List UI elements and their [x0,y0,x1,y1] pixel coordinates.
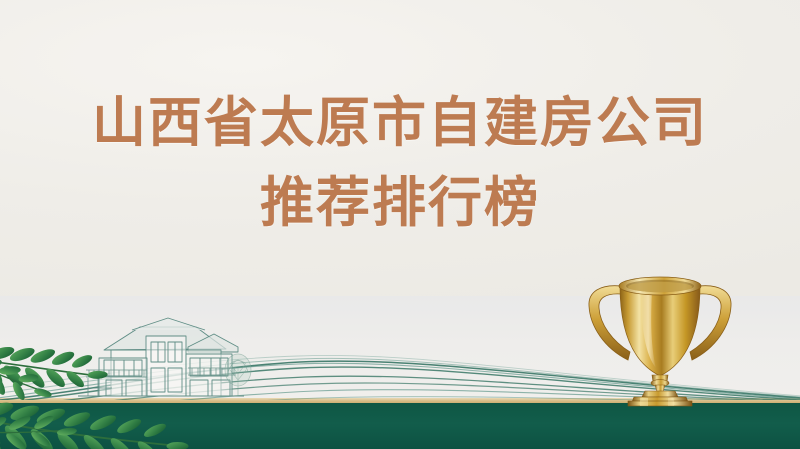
poster-canvas: 山西省太原市自建房公司 推荐排行榜 [0,0,800,449]
poster-headline: 山西省太原市自建房公司 推荐排行榜 [0,96,800,230]
title-line-2: 推荐排行榜 [0,176,800,230]
background-middle [0,296,800,402]
title-line-1: 山西省太原市自建房公司 [0,96,800,150]
footer-green-band [0,403,800,449]
